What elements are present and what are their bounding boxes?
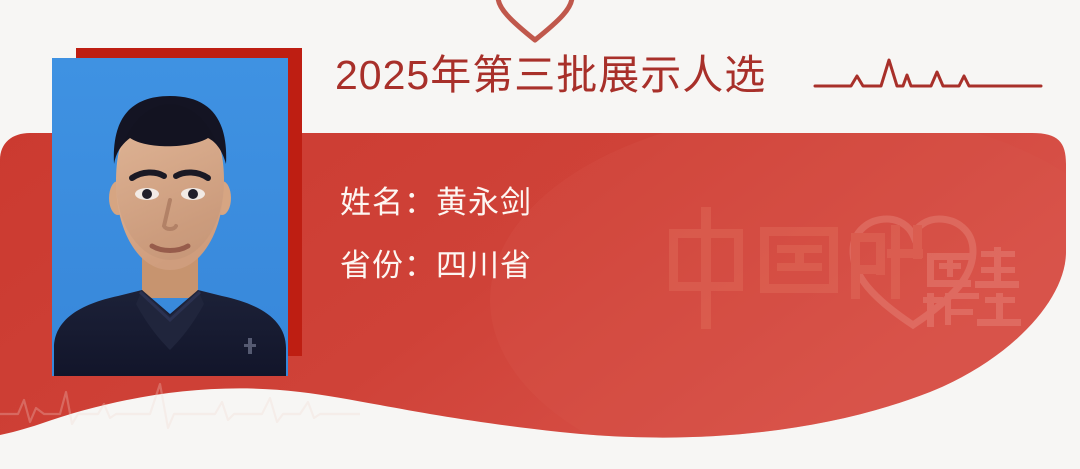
ecg-line-bottom-icon	[0, 378, 360, 438]
profile-card: 2025年第三批展示人选	[0, 0, 1080, 469]
page-title: 2025年第三批展示人选	[335, 52, 766, 98]
header: 2025年第三批展示人选	[335, 0, 1055, 125]
heart-outline-icon	[492, 0, 578, 44]
portrait-photo	[52, 58, 288, 376]
ecg-line-icon	[813, 56, 1043, 102]
info-fields: 姓名：黄永剑 省份：四川省	[340, 186, 532, 283]
watermark-logo	[655, 193, 1025, 343]
portrait-photo-block	[52, 48, 302, 378]
field-province: 省份：四川省	[340, 249, 532, 283]
field-name: 姓名：黄永剑	[340, 186, 532, 220]
